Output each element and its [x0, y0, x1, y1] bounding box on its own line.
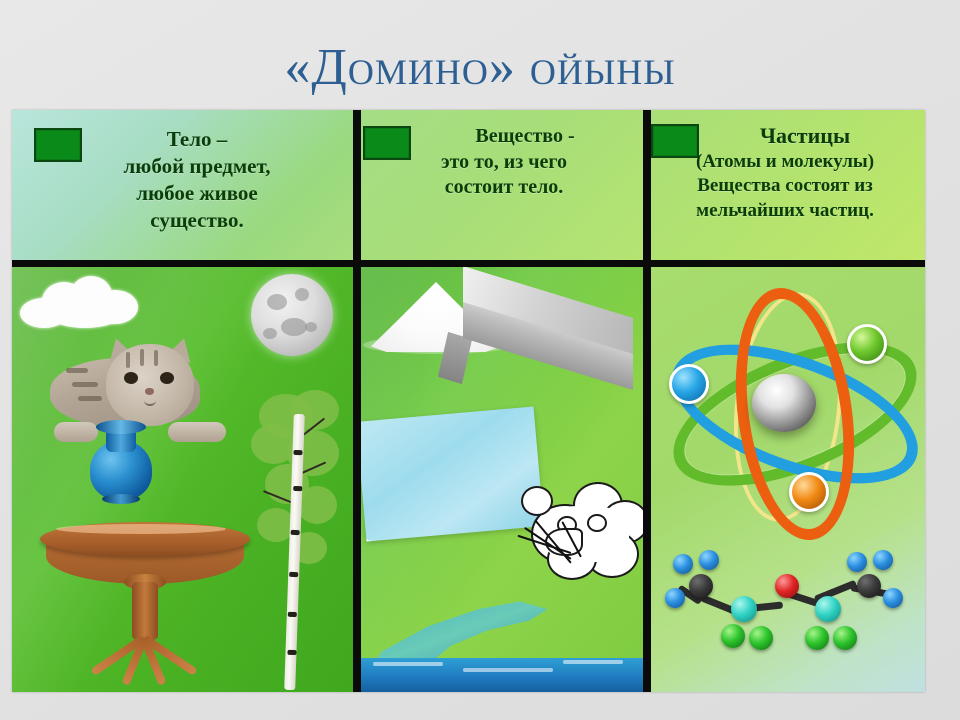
water-wave-illustration [353, 572, 643, 692]
page-title: «Домино» ойыны [0, 38, 960, 97]
definition-card-body[interactable]: Тело – любой предмет, любое живое сущест… [12, 110, 353, 260]
moon-icon [251, 274, 333, 356]
electron-green [847, 324, 887, 364]
molecule-model-illustration [665, 548, 909, 658]
horizontal-divider [12, 260, 925, 267]
definition-text-body: Тело – любой предмет, любое живое сущест… [52, 126, 342, 234]
definitions-row: Тело – любой предмет, любое живое сущест… [12, 110, 925, 260]
vertical-divider-1 [353, 110, 361, 692]
illustrations-row [12, 262, 925, 692]
illustration-panel-substances[interactable] [353, 262, 643, 692]
slide-canvas: «Домино» ойыны Тело – любой предмет, люб… [0, 0, 960, 720]
metal-ingot-illustration [463, 290, 638, 402]
definition-text-substance: Вещество - это то, из чего состоит тело. [373, 124, 635, 201]
atom-model-illustration [661, 280, 907, 526]
electron-blue [669, 364, 709, 404]
illustration-panel-bodies[interactable] [12, 262, 353, 692]
birch-tree-illustration [235, 390, 345, 690]
electron-orange [789, 472, 829, 512]
cloud-icon [20, 276, 140, 328]
domino-board: Тело – любой предмет, любое живое сущест… [12, 110, 925, 692]
wooden-table-illustration [40, 498, 250, 688]
blue-vase-illustration [90, 420, 152, 504]
illustration-panel-particles[interactable] [643, 262, 925, 692]
definition-card-particles[interactable]: Частицы (Атомы и молекулы) Вещества сост… [643, 110, 925, 260]
definition-text-particles: Частицы (Атомы и молекулы) Вещества сост… [647, 122, 923, 223]
vertical-divider-2 [643, 110, 651, 692]
atom-nucleus [752, 374, 816, 432]
definition-card-substance[interactable]: Вещество - это то, из чего состоит тело. [353, 110, 643, 260]
